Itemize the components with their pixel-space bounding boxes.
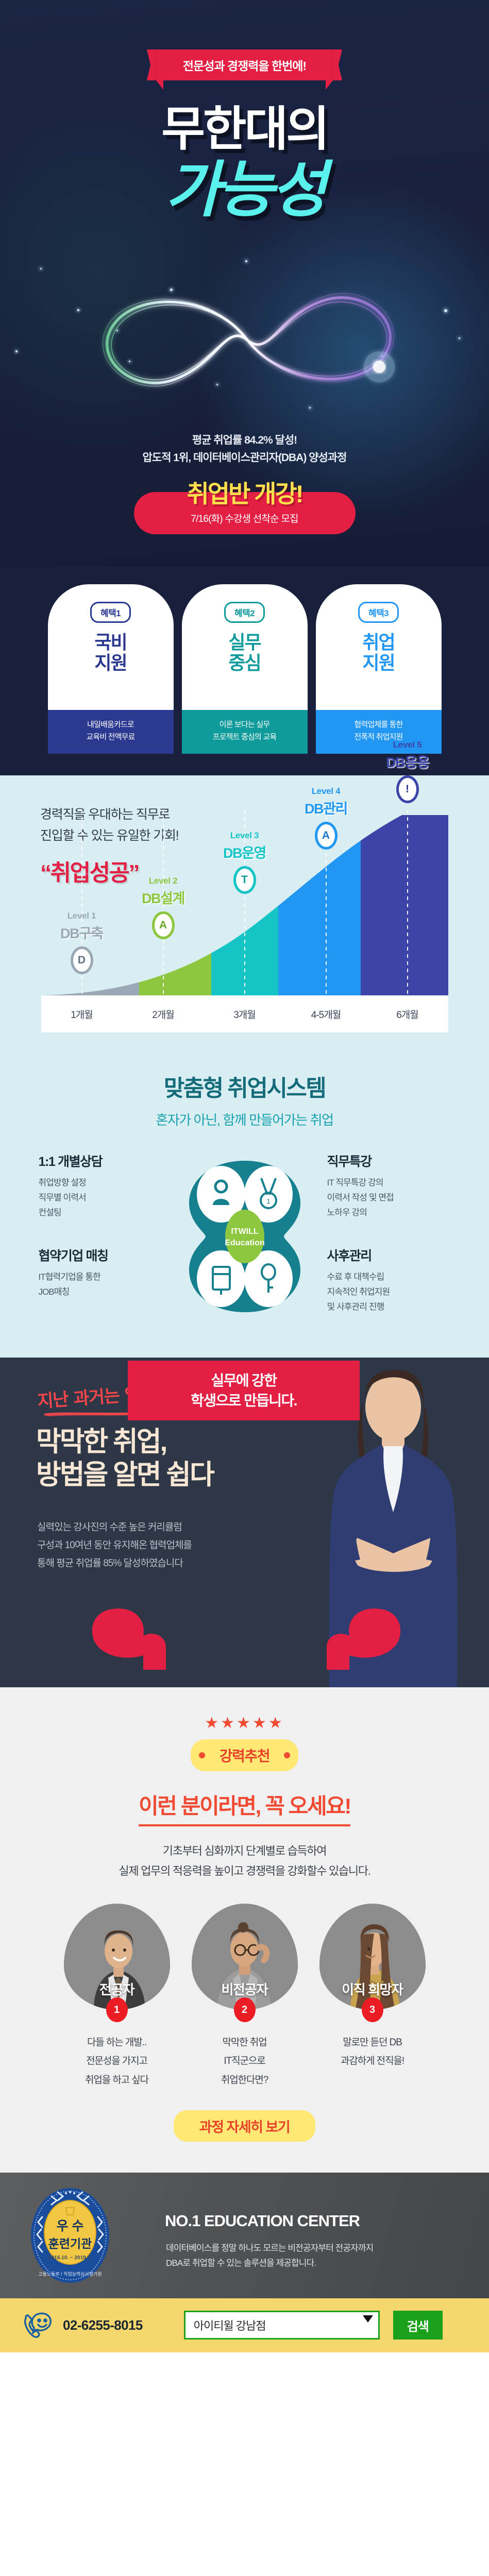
system-item-3: 협약기업 매칭 IT협력기업을 통한 JOB매칭 bbox=[39, 1246, 162, 1299]
persona-name-1: 전공자 bbox=[64, 1979, 170, 1998]
employment-system-section: 맞춤형 취업시스템 혼자가 아닌, 함께 만들어가는 취업 1:1 개별상담 취… bbox=[0, 1064, 489, 1358]
persona-list: 전공자 1 다들 하는 개발.. 전문성을 가지고 취업을 하고 싶다 bbox=[0, 1904, 489, 2089]
chart-marker-5: ! bbox=[396, 775, 419, 803]
hero-cta-wrapper: 취업반 개강! 7/16(화) 수강생 선착순 모집 bbox=[0, 492, 489, 534]
system-item-4-desc: 수료 후 대책수립 지속적인 취업지원 및 사후관리 진행 bbox=[327, 1269, 451, 1315]
chart-marker-3: T bbox=[233, 866, 256, 894]
instructor-section: 지난 과거는 잊어라! 막막한 취업, 방법을 알면 쉽다 실력있는 강사진의 … bbox=[0, 1358, 489, 1687]
instructor-banner-text: 실무에 강한 학생으로 만듭니다. bbox=[191, 1370, 297, 1411]
hero-subtitle-line2: 압도적 1위, 데이터베이스관리자(DBA) 양성과정 bbox=[0, 449, 489, 467]
chart-annotation-3: Level 3 DB운영 T bbox=[206, 831, 283, 894]
system-item-1-title: 1:1 개별상담 bbox=[39, 1151, 162, 1170]
persona-number-3: 3 bbox=[362, 1997, 383, 2022]
seal-top-text: 우 수 bbox=[57, 2219, 84, 2233]
persona-desc-1: 다들 하는 개발.. 전문성을 가지고 취업을 하고 싶다 bbox=[64, 2033, 170, 2089]
contact-bar: 02-6255-8015 아이티윌 강남점 검색 bbox=[0, 2298, 489, 2352]
system-item-3-title: 협약기업 매칭 bbox=[39, 1246, 162, 1264]
benefit-badge-2: 혜택2 bbox=[224, 602, 265, 623]
hero-subtitle: 평균 취업률 84.2% 달성! 압도적 1위, 데이터베이스관리자(DBA) … bbox=[0, 432, 489, 467]
benefit-card-3[interactable]: 혜택3 취업 지원 협력업체를 통한 전폭적 취업지원 bbox=[316, 584, 442, 754]
benefit-card-2[interactable]: 혜택2 실무 중심 이론 보다는 실무 프로젝트 중심의 교육 bbox=[182, 584, 308, 754]
recommend-pill-text: 강력추천 bbox=[220, 1748, 269, 1764]
chart-x-axis: 1개월 2개월 3개월 4-5개월 6개월 bbox=[41, 995, 448, 1032]
chart-annotation-2: Level 2 DB설계 A bbox=[125, 876, 202, 939]
recommend-subtext: 기초부터 심화까지 단계별로 습득하여 실제 업무의 적응력을 높이고 경쟁력을… bbox=[0, 1841, 489, 1881]
chart-marker-1: D bbox=[71, 946, 93, 974]
persona-card-2[interactable]: 비전공자 2 막막한 취업 IT직군으로 취업한다면? bbox=[192, 1904, 298, 2089]
svg-text:1: 1 bbox=[266, 1197, 270, 1205]
seal-date-text: 2016.10. ~ 2019.9. bbox=[48, 2255, 92, 2261]
chart-level-name-4: DB관리 bbox=[288, 798, 365, 818]
chart-level-2: Level 2 bbox=[125, 876, 202, 886]
benefit-title-3: 취업 지원 bbox=[316, 632, 442, 674]
system-item-2-title: 직무특강 bbox=[327, 1151, 451, 1170]
benefit-title-2: 실무 중심 bbox=[182, 632, 308, 674]
benefit-card-1[interactable]: 혜택1 국비 지원 내일배움카드로 교육비 전액무료 bbox=[48, 584, 174, 754]
chart-level-name-1: DB구축 bbox=[43, 922, 121, 942]
growth-chart: Level 1 DB구축 D Level 2 DB설계 A Level 3 DB… bbox=[41, 810, 448, 1031]
hero-ribbon: 전문성과 경쟁력을 한번에! bbox=[0, 49, 489, 80]
system-item-4-title: 사후관리 bbox=[327, 1246, 451, 1264]
chart-level-4: Level 4 bbox=[288, 786, 365, 796]
chevron-down-icon bbox=[363, 2315, 373, 2323]
seal-bottom-text: 훈련기관 bbox=[48, 2237, 92, 2250]
chart-annotation-4: Level 4 DB관리 A bbox=[288, 786, 365, 850]
system-title: 맞춤형 취업시스템 bbox=[0, 1070, 489, 1103]
recommend-pill: 강력추천 bbox=[191, 1739, 298, 1771]
branch-select-value: 아이티윌 강남점 bbox=[194, 2317, 266, 2333]
footer-section: 우 수 훈련기관 2016.10. ~ 2019.9. 고용노동부 / 직업능력… bbox=[0, 2173, 489, 2298]
persona-avatar-2: 비전공자 bbox=[192, 1904, 298, 2010]
chart-plot-area: Level 1 DB구축 D Level 2 DB설계 A Level 3 DB… bbox=[41, 810, 448, 995]
footer-body: 데이터베이스를 정말 하나도 모르는 비전공자부터 전공자까지 DBA로 취업할… bbox=[166, 2241, 373, 2270]
search-button[interactable]: 검색 bbox=[393, 2311, 443, 2340]
system-item-1: 1:1 개별상담 취업방향 설정 직무별 이력서 컨설팅 bbox=[39, 1151, 162, 1221]
system-item-2-desc: IT 직무특강 강의 이력서 작성 및 면접 노하우 강의 bbox=[327, 1175, 451, 1221]
persona-card-3[interactable]: 이직 희망자 3 말로만 듣던 DB 과감하게 전직을! bbox=[319, 1904, 426, 2089]
hero-title-line2: 가능성 bbox=[0, 140, 489, 228]
instructor-banner: 실무에 강한 학생으로 만듭니다. bbox=[128, 1361, 360, 1420]
hero-ribbon-text: 전문성과 경쟁력을 한번에! bbox=[183, 59, 306, 73]
branch-select[interactable]: 아이티윌 강남점 bbox=[184, 2311, 380, 2340]
x-tick-4: 4-5개월 bbox=[285, 1007, 367, 1021]
chart-level-name-3: DB운영 bbox=[206, 842, 283, 862]
star-rating-icon: ★★★★★ bbox=[0, 1714, 489, 1732]
phone-number[interactable]: 02-6255-8015 bbox=[63, 2317, 143, 2333]
recommend-pill-wrapper: 강력추천 bbox=[0, 1739, 489, 1771]
hero-section: 전문성과 경쟁력을 한번에! 무한대의 가능성 bbox=[0, 0, 489, 567]
chart-level-name-2: DB설계 bbox=[125, 887, 202, 907]
center-label-line1: ITWILL bbox=[231, 1227, 259, 1236]
system-grid: 1:1 개별상담 취업방향 설정 직무별 이력서 컨설팅 bbox=[23, 1151, 466, 1321]
system-item-4: 사후관리 수료 후 대책수립 지속적인 취업지원 및 사후관리 진행 bbox=[327, 1246, 451, 1315]
x-tick-3: 3개월 bbox=[204, 1007, 285, 1021]
persona-avatar-3: 이직 희망자 bbox=[319, 1904, 426, 2010]
system-item-3-desc: IT협력기업을 통한 JOB매칭 bbox=[39, 1269, 162, 1299]
chart-marker-2: A bbox=[152, 911, 175, 939]
pill-dot-right-icon bbox=[284, 1752, 290, 1758]
recommend-section: ★★★★★ 강력추천 이런 분이라면, 꼭 오세요! 기초부터 심화까지 단계별… bbox=[0, 1687, 489, 2173]
instructor-headline: 막막한 취업, 방법을 알면 쉽다 bbox=[36, 1426, 213, 1491]
pill-dot-left-icon bbox=[199, 1752, 205, 1758]
chart-level-name-5: DB응용 bbox=[369, 751, 446, 771]
system-item-2: 직무특강 IT 직무특강 강의 이력서 작성 및 면접 노하우 강의 bbox=[327, 1151, 451, 1221]
course-detail-button[interactable]: 과정 자세히 보기 bbox=[174, 2110, 315, 2142]
persona-name-2: 비전공자 bbox=[192, 1979, 298, 1998]
benefit-card-2-top: 혜택2 실무 중심 bbox=[182, 584, 308, 710]
landing-page: 전문성과 경쟁력을 한번에! 무한대의 가능성 bbox=[0, 0, 489, 2352]
x-tick-5: 6개월 bbox=[367, 1007, 448, 1021]
persona-desc-2: 막막한 취업 IT직군으로 취업한다면? bbox=[192, 2033, 298, 2089]
chart-level-3: Level 3 bbox=[206, 831, 283, 841]
hero-cta-subline: 7/16(화) 수강생 선착순 모집 bbox=[157, 511, 333, 525]
benefit-desc-1: 내일배움카드로 교육비 전액무료 bbox=[48, 710, 174, 754]
persona-desc-3: 말로만 듣던 DB 과감하게 전직을! bbox=[319, 2033, 426, 2071]
footer-title: NO.1 EDUCATION CENTER bbox=[165, 2212, 360, 2230]
chart-level-1: Level 1 bbox=[43, 911, 121, 921]
system-center-diagram: 1 ITWILL Education bbox=[178, 1151, 312, 1321]
persona-card-1[interactable]: 전공자 1 다들 하는 개발.. 전문성을 가지고 취업을 하고 싶다 bbox=[64, 1904, 170, 2089]
hero-cta-headline: 취업반 개강! bbox=[157, 482, 333, 506]
benefit-badge-3: 혜택3 bbox=[358, 602, 399, 623]
hero-cta-banner[interactable]: 취업반 개강! 7/16(화) 수강생 선착순 모집 bbox=[134, 492, 356, 534]
persona-number-2: 2 bbox=[234, 1997, 256, 2022]
recommend-headline: 이런 분이라면, 꼭 오세요! bbox=[139, 1789, 350, 1826]
persona-avatar-1: 전공자 bbox=[64, 1904, 170, 2010]
system-item-1-desc: 취업방향 설정 직무별 이력서 컨설팅 bbox=[39, 1175, 162, 1221]
persona-number-1: 1 bbox=[106, 1997, 128, 2022]
hero-subtitle-line1: 평균 취업률 84.2% 달성! bbox=[0, 432, 489, 449]
phone-smile-icon[interactable] bbox=[22, 2310, 54, 2340]
benefit-title-1: 국비 지원 bbox=[48, 632, 174, 674]
benefit-card-1-top: 혜택1 국비 지원 bbox=[48, 584, 174, 710]
chart-level-5: Level 5 bbox=[369, 740, 446, 750]
x-tick-2: 2개월 bbox=[123, 1007, 204, 1021]
course-cta-wrapper: 과정 자세히 보기 bbox=[0, 2110, 489, 2142]
persona-name-3: 이직 희망자 bbox=[319, 1979, 426, 1998]
career-chart-section: 경력직을 우대하는 직무로 진입할 수 있는 유일한 기회! “취업성공” bbox=[0, 775, 489, 1064]
system-petal-diagram: 1 ITWILL Education bbox=[178, 1151, 312, 1321]
chart-annotation-1: Level 1 DB구축 D bbox=[43, 911, 121, 974]
benefit-card-3-top: 혜택3 취업 지원 bbox=[316, 584, 442, 710]
benefit-desc-2: 이론 보다는 실무 프로젝트 중심의 교육 bbox=[182, 710, 308, 754]
x-tick-1: 1개월 bbox=[41, 1007, 123, 1021]
infinity-graphic bbox=[72, 273, 423, 407]
excellence-seal-icon: 우 수 훈련기관 2016.10. ~ 2019.9. 고용노동부 / 직업능력… bbox=[29, 2186, 111, 2285]
chart-marker-4: A bbox=[315, 822, 338, 850]
center-label-line2: Education bbox=[225, 1239, 264, 1247]
strong-arms-graphic bbox=[56, 1606, 437, 1673]
system-subtitle: 혼자가 아닌, 함께 만들어가는 취업 bbox=[0, 1110, 489, 1129]
instructor-body: 실력있는 강사진의 수준 높은 커리큘럼 구성과 10여년 동안 유지해온 협력… bbox=[37, 1518, 192, 1572]
chart-annotation-5: Level 5 DB응용 ! bbox=[369, 740, 446, 803]
seal-issuer-text: 고용노동부 / 직업능력심사평가원 bbox=[38, 2271, 102, 2277]
benefit-badge-1: 혜택1 bbox=[90, 602, 131, 623]
